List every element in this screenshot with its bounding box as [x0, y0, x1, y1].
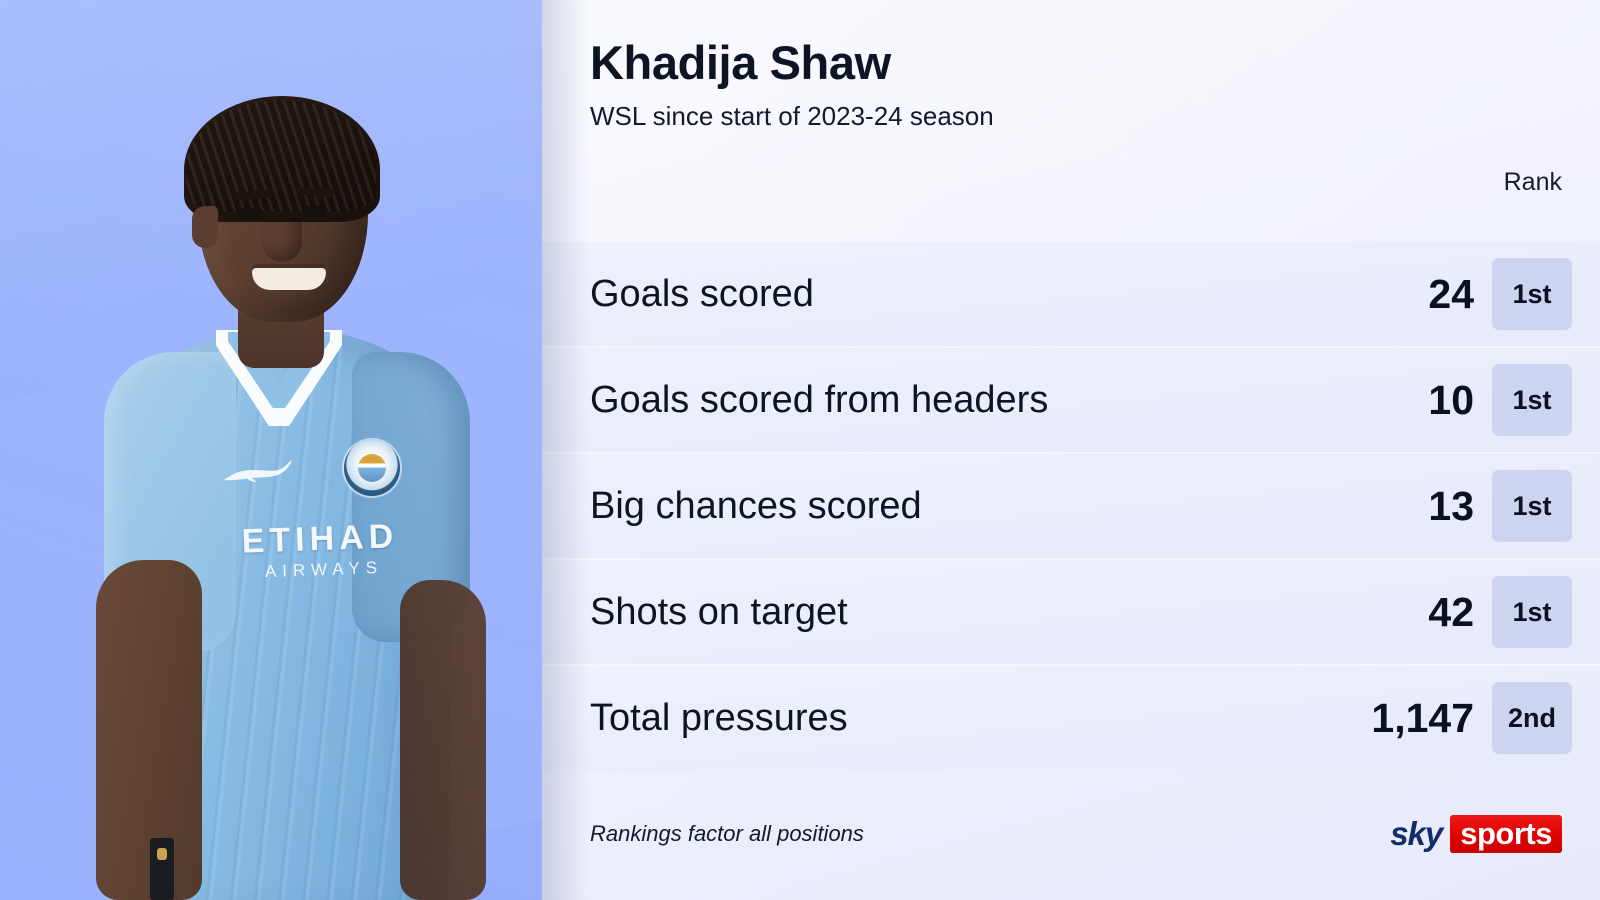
- header: Khadija Shaw WSL since start of 2023-24 …: [590, 38, 1530, 133]
- stats-list: Goals scored 24 1st Goals scored from he…: [542, 242, 1600, 770]
- stat-label: Big chances scored: [542, 485, 1324, 528]
- stat-rank-badge: 1st: [1492, 258, 1572, 330]
- stat-label: Shots on target: [542, 591, 1324, 634]
- stat-rank-badge: 1st: [1492, 470, 1572, 542]
- stat-rank-badge: 1st: [1492, 364, 1572, 436]
- rank-column-header: Rank: [1504, 168, 1562, 197]
- footer: Rankings factor all positions sky sports: [590, 802, 1562, 866]
- sky-sports-logo: sky sports: [1390, 815, 1562, 853]
- player-arm-left: [96, 560, 202, 900]
- page-subtitle: WSL since start of 2023-24 season: [590, 101, 1530, 132]
- stat-rank-badge: 1st: [1492, 576, 1572, 648]
- player-nose: [262, 218, 302, 262]
- logo-sky-word: sky: [1390, 815, 1450, 853]
- puma-logo-icon: [222, 458, 296, 484]
- stat-row: Big chances scored 13 1st: [542, 452, 1600, 558]
- player-portrait-image: ETIHAD AIRWAYS: [0, 0, 542, 900]
- stat-label: Total pressures: [542, 697, 1324, 740]
- player-photo-panel: ETIHAD AIRWAYS: [0, 0, 542, 900]
- footnote: Rankings factor all positions: [590, 821, 864, 847]
- stat-label: Goals scored: [542, 273, 1324, 316]
- stat-row: Shots on target 42 1st: [542, 558, 1600, 664]
- page-title: Khadija Shaw: [590, 38, 1530, 87]
- stat-label: Goals scored from headers: [542, 379, 1324, 422]
- club-crest-inner: [358, 454, 386, 482]
- stat-row: Goals scored from headers 10 1st: [542, 346, 1600, 452]
- player-smile: [252, 268, 326, 290]
- logo-sports-word: sports: [1450, 815, 1562, 853]
- player-arm-right: [400, 580, 486, 900]
- stat-rank-badge: 2nd: [1492, 682, 1572, 754]
- stat-value: 42: [1324, 589, 1492, 636]
- stat-value: 13: [1324, 483, 1492, 530]
- stat-row: Goals scored 24 1st: [542, 242, 1600, 346]
- player-ear: [192, 206, 218, 248]
- player-eye-left: [238, 208, 264, 219]
- stat-value: 24: [1324, 271, 1492, 318]
- sky-sports-stat-graphic: ETIHAD AIRWAYS Khadija Shaw WSL since st…: [0, 0, 1600, 900]
- player-eye-right: [302, 206, 328, 217]
- stat-value: 10: [1324, 377, 1492, 424]
- stat-row: Total pressures 1,147 2nd: [542, 664, 1600, 770]
- kit-hem-tag: [150, 838, 174, 900]
- stat-value: 1,147: [1324, 695, 1492, 742]
- stats-panel: Khadija Shaw WSL since start of 2023-24 …: [542, 0, 1600, 900]
